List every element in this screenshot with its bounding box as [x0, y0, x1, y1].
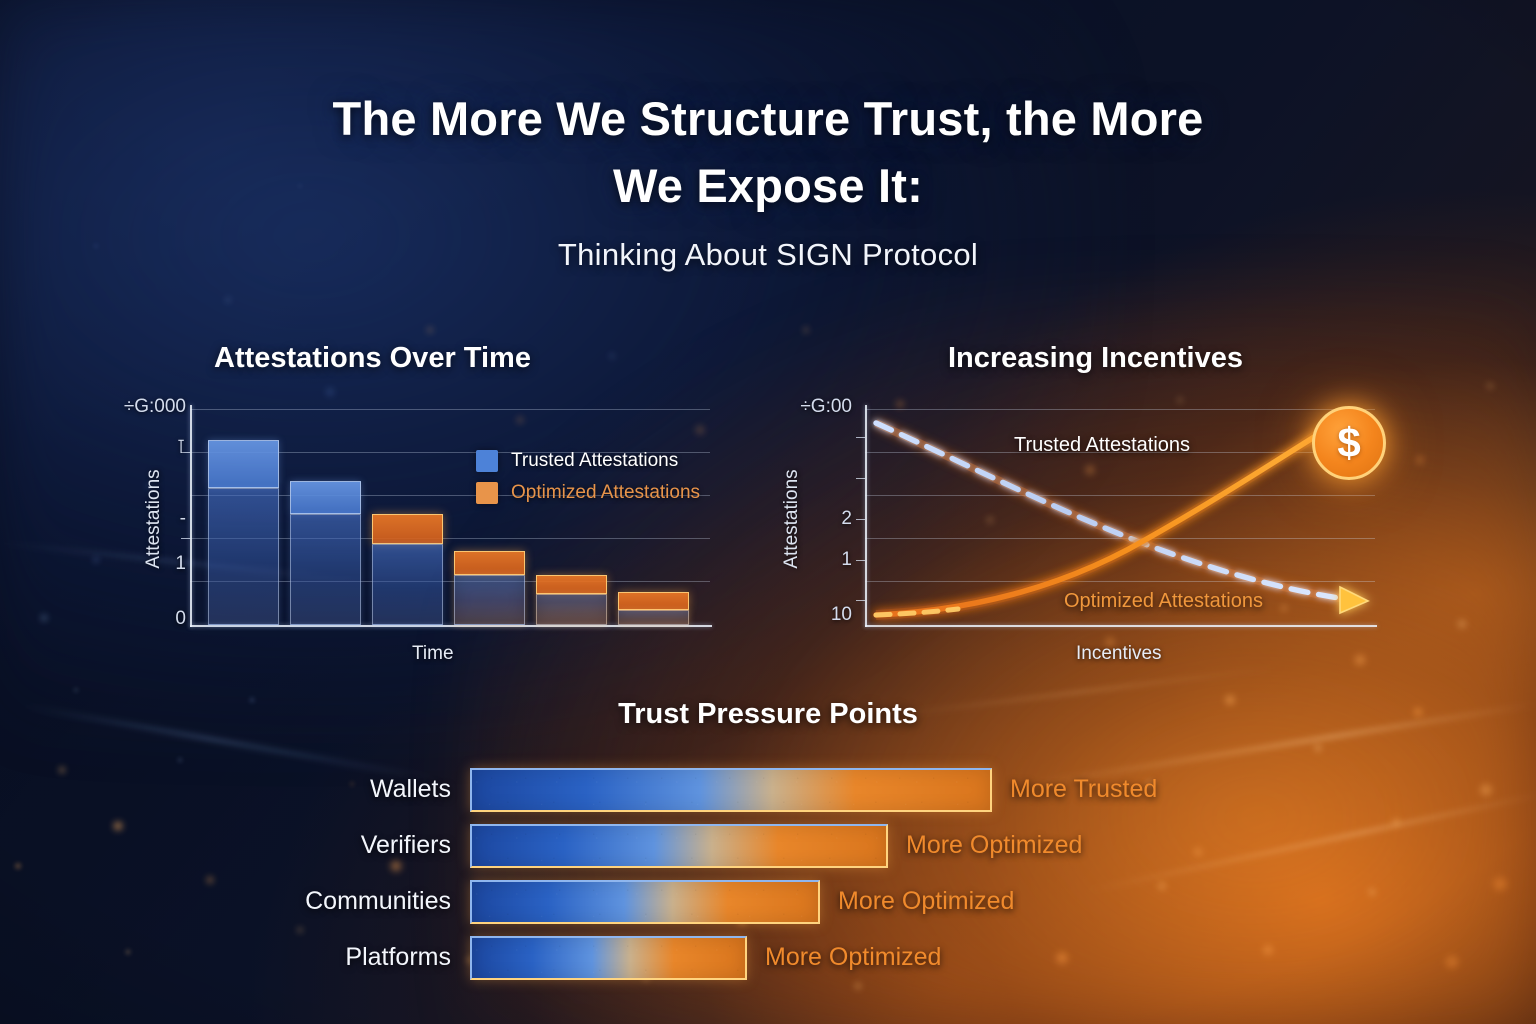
- infographic-canvas: The More We Structure Trust, the More We…: [0, 0, 1536, 1024]
- pressure-bar: [470, 768, 992, 812]
- pressure-row: VerifiersMore Optimized: [0, 822, 1536, 874]
- pressure-row-label: Wallets: [31, 766, 451, 812]
- pressure-row-label: Verifiers: [31, 822, 451, 868]
- pressure-bar-texture: [472, 770, 990, 810]
- pressure-bar-texture: [472, 882, 818, 922]
- dollar-sign-glyph: $: [1337, 422, 1360, 464]
- chart-title-trust-pressure-points: Trust Pressure Points: [0, 698, 1536, 731]
- pressure-row-value: More Optimized: [838, 878, 1014, 924]
- pressure-row: PlatformsMore Optimized: [0, 934, 1536, 986]
- pressure-bar: [470, 936, 747, 980]
- pressure-row-label: Platforms: [31, 934, 451, 980]
- trust-pressure-rows: WalletsMore TrustedVerifiersMore Optimiz…: [0, 766, 1536, 990]
- dollar-badge-icon: $: [1312, 406, 1386, 480]
- pressure-row-label: Communities: [31, 878, 451, 924]
- pressure-row-value: More Optimized: [765, 934, 941, 980]
- pressure-row-value: More Optimized: [906, 822, 1082, 868]
- pressure-bar: [470, 880, 820, 924]
- curve-label-trusted: Trusted Attestations: [1014, 434, 1190, 457]
- pressure-row-value: More Trusted: [1010, 766, 1157, 812]
- trusted-curve-arrow-icon: [1340, 587, 1368, 613]
- pressure-bar: [470, 824, 888, 868]
- pressure-bar-texture: [472, 826, 886, 866]
- curve-label-optimized: Optimized Attestations: [1064, 590, 1263, 613]
- pressure-row: WalletsMore Trusted: [0, 766, 1536, 818]
- pressure-row: CommunitiesMore Optimized: [0, 878, 1536, 930]
- pressure-bar-texture: [472, 938, 745, 978]
